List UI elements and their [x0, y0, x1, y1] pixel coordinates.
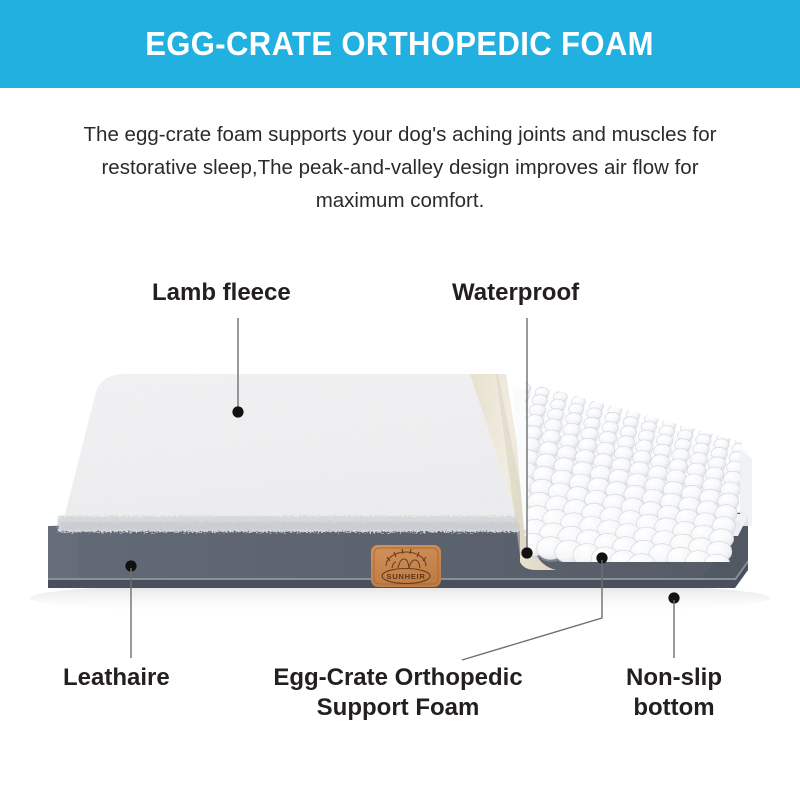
product-illustration: SUNHEIR [0, 330, 800, 650]
foam-right-edge [740, 450, 752, 526]
callout-label-waterproof: Waterproof [452, 278, 579, 308]
callout-label-non-slip: Non-slip bottom [598, 663, 750, 723]
leathaire-corner-shade [48, 526, 78, 578]
callout-label-leathaire: Leathaire [63, 663, 170, 693]
fleece-front-edge-2 [60, 522, 522, 530]
product-infographic: EGG-CRATE ORTHOPEDIC FOAM The egg-crate … [0, 0, 800, 800]
page-title: EGG-CRATE ORTHOPEDIC FOAM [146, 25, 655, 63]
lamb-fleece-top [58, 374, 524, 532]
header-banner: EGG-CRATE ORTHOPEDIC FOAM [0, 0, 800, 88]
brand-tag-text: SUNHEIR [386, 572, 425, 581]
dog-bed-illustration: SUNHEIR [0, 330, 800, 650]
intro-paragraph: The egg-crate foam supports your dog's a… [72, 118, 728, 217]
callout-label-lamb-fleece: Lamb fleece [152, 278, 291, 308]
fleece-top-surface [62, 374, 520, 526]
brand-tag: SUNHEIR [371, 545, 441, 587]
callout-label-egg-crate: Egg-Crate Orthopedic Support Foam [228, 663, 568, 723]
